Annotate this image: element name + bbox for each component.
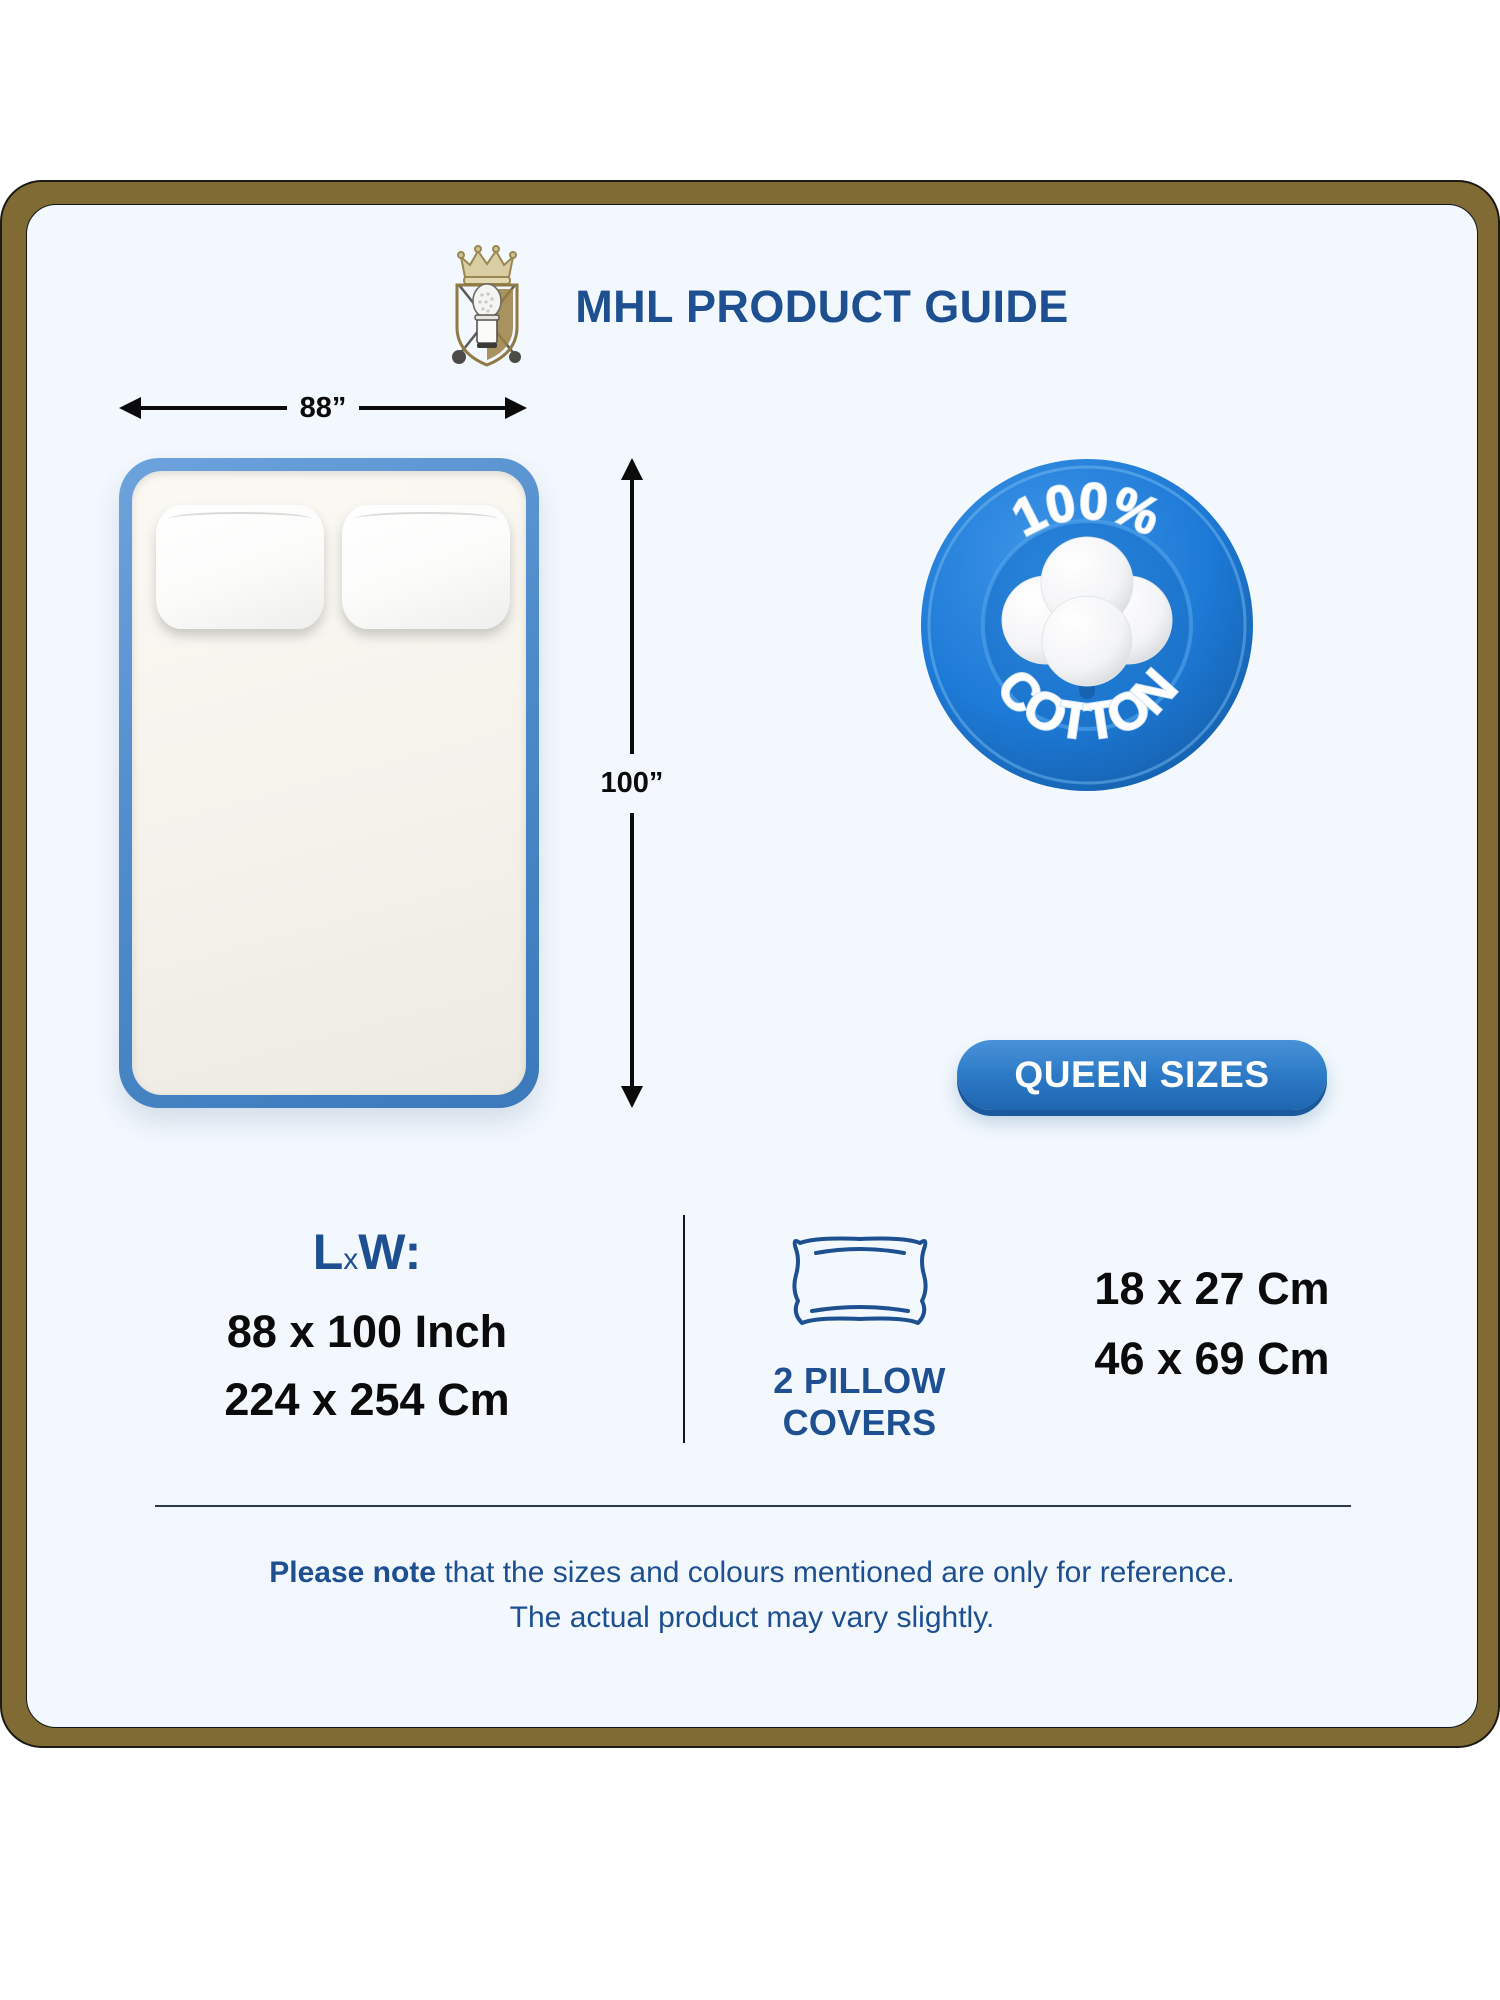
- pillow-caption-line2: COVERS: [727, 1402, 992, 1444]
- pillow-size-small: 18 x 27 Cm: [1012, 1263, 1412, 1315]
- size-inch: 88 x 100 Inch: [67, 1306, 667, 1358]
- height-dimension: 100”: [597, 458, 667, 1108]
- specs-row: LxW: 88 x 100 Inch 224 x 254 Cm 2 PILLOW…: [27, 1225, 1477, 1465]
- pillow-sizes-block: 18 x 27 Cm 46 x 69 Cm: [1012, 1263, 1412, 1385]
- length-width-block: LxW: 88 x 100 Inch 224 x 254 Cm: [67, 1225, 667, 1426]
- lw-heading-w: W:: [358, 1224, 421, 1280]
- cotton-badge: 100% COTTON: [917, 455, 1257, 795]
- footer-note-line2: The actual product may vary slightly.: [510, 1601, 995, 1634]
- guide-card: MHL PRODUCT GUIDE 88” 100”: [26, 204, 1478, 1728]
- pillow-right: [342, 505, 510, 629]
- pillow-covers-block: 2 PILLOW COVERS: [727, 1227, 992, 1445]
- pillow-outline-icon: [782, 1227, 938, 1339]
- queen-sizes-badge[interactable]: QUEEN SIZES: [957, 1040, 1327, 1110]
- width-dimension: 88”: [119, 390, 527, 426]
- pillow-caption-line1: 2 PILLOW: [727, 1360, 992, 1402]
- height-dimension-label: 100”: [601, 754, 664, 813]
- lw-heading: LxW:: [67, 1225, 667, 1280]
- footer-divider: [155, 1505, 1351, 1507]
- footer-note: Please note that the sizes and colours m…: [27, 1550, 1477, 1640]
- dimension-line: [141, 406, 287, 410]
- dimension-line: [630, 813, 634, 1087]
- size-cm: 224 x 254 Cm: [67, 1374, 667, 1426]
- pillow-left: [156, 505, 324, 629]
- footer-note-bold: Please note: [269, 1556, 436, 1589]
- header: MHL PRODUCT GUIDE: [27, 243, 1477, 371]
- lw-heading-x: x: [343, 1243, 358, 1276]
- dimension-line: [359, 406, 505, 410]
- lw-heading-l: L: [313, 1224, 344, 1280]
- dimension-line: [630, 480, 634, 754]
- arrow-right-icon: [505, 397, 527, 419]
- bed-frame: [119, 458, 539, 1108]
- arrow-down-icon: [621, 1086, 643, 1108]
- page-title: MHL PRODUCT GUIDE: [575, 281, 1068, 333]
- outer-border-frame: MHL PRODUCT GUIDE 88” 100”: [0, 180, 1500, 1748]
- crown-shield-golf-logo: [435, 243, 539, 371]
- pillow-covers-caption: 2 PILLOW COVERS: [727, 1360, 992, 1445]
- mattress: [132, 471, 526, 1095]
- bed-diagram: 88” 100”: [97, 390, 757, 1190]
- pillow-size-large: 46 x 69 Cm: [1012, 1333, 1412, 1385]
- arrow-up-icon: [621, 458, 643, 480]
- width-dimension-label: 88”: [287, 392, 360, 425]
- footer-note-rest: that the sizes and colours mentioned are…: [436, 1556, 1235, 1589]
- spec-divider: [683, 1215, 685, 1443]
- arrow-left-icon: [119, 397, 141, 419]
- queen-sizes-label: QUEEN SIZES: [1014, 1054, 1269, 1096]
